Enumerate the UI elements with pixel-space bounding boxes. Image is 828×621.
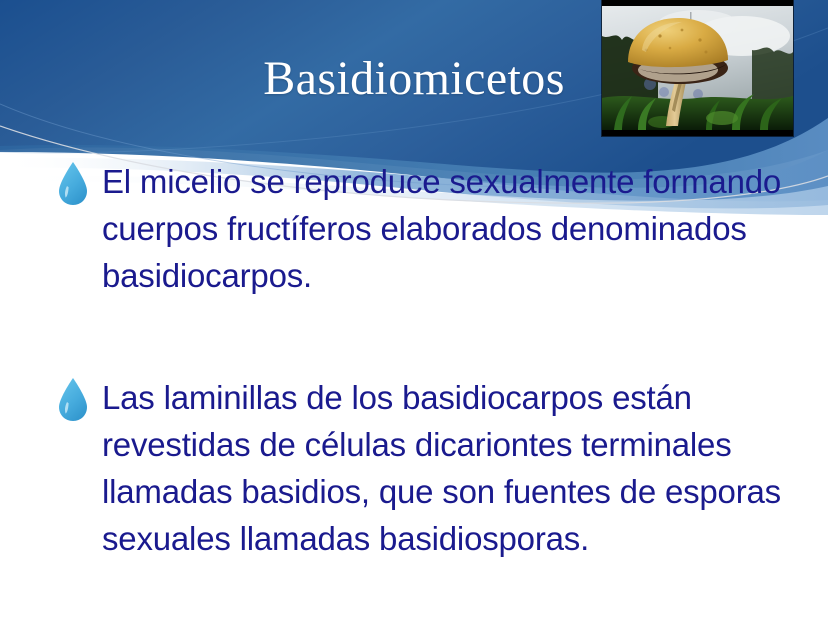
water-drop-icon — [56, 160, 90, 206]
slide-body: El micelio se reproduce sexualmente form… — [0, 0, 828, 621]
list-item-text: El micelio se reproduce sexualmente form… — [102, 158, 816, 299]
list-item-text: Las laminillas de los basidiocarpos está… — [102, 374, 816, 562]
presentation-slide: Basidiomicetos — [0, 0, 828, 621]
list-item: El micelio se reproduce sexualmente form… — [56, 158, 816, 299]
list-item: Las laminillas de los basidiocarpos está… — [56, 374, 816, 562]
water-drop-icon — [56, 376, 90, 422]
